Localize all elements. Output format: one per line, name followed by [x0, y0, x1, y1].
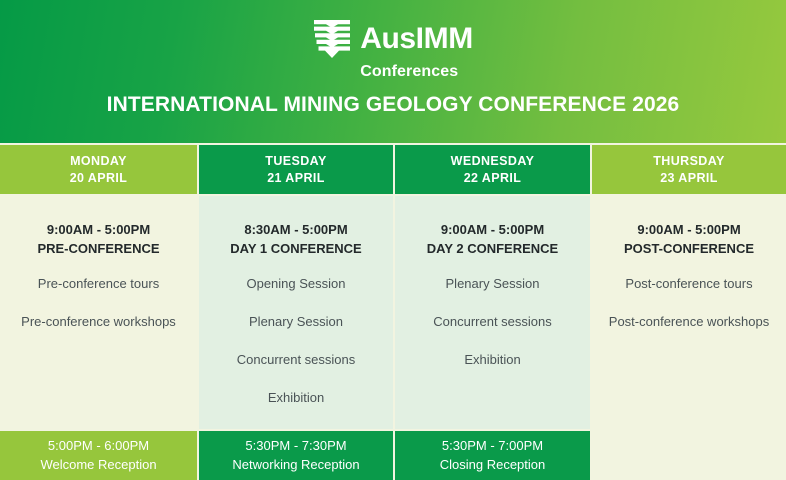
day-body-tuesday: 8:30AM - 5:00PM DAY 1 CONFERENCE Opening… — [199, 196, 393, 429]
day-header-monday: MONDAY 20 APRIL — [0, 143, 197, 196]
reception-name: Welcome Reception — [40, 456, 156, 475]
list-item: Pre-conference workshops — [15, 313, 182, 331]
day-date: 22 APRIL — [464, 170, 522, 187]
slot-label: PRE-CONFERENCE — [37, 240, 159, 259]
day-header-wednesday: WEDNESDAY 22 APRIL — [395, 143, 590, 196]
reception-cell-tuesday: 5:30PM - 7:30PM Networking Reception — [199, 429, 393, 480]
slot-time: 9:00AM - 5:00PM — [441, 221, 544, 240]
slot-label: POST-CONFERENCE — [624, 240, 754, 259]
session-list: Pre-conference tours Pre-conference work… — [0, 275, 197, 351]
reception-time: 5:30PM - 7:30PM — [245, 437, 346, 456]
schedule-column-thursday: THURSDAY 23 APRIL 9:00AM - 5:00PM POST-C… — [590, 143, 786, 480]
reception-time: 5:30PM - 7:00PM — [442, 437, 543, 456]
day-name: TUESDAY — [265, 153, 326, 170]
list-item: Post-conference workshops — [603, 313, 775, 331]
ausimm-layers-icon — [313, 19, 351, 59]
brand-tagline: Conferences — [360, 64, 458, 80]
list-item: Exhibition — [262, 389, 330, 407]
slot-time: 9:00AM - 5:00PM — [637, 221, 740, 240]
list-item: Concurrent sessions — [427, 313, 558, 331]
conference-program-card: AusIMM Conferences INTERNATIONAL MINING … — [0, 0, 786, 480]
schedule-column-wednesday: WEDNESDAY 22 APRIL 9:00AM - 5:00PM DAY 2… — [393, 143, 590, 480]
list-item: Post-conference tours — [619, 275, 758, 293]
slot-label: DAY 2 CONFERENCE — [427, 240, 558, 259]
page-title: INTERNATIONAL MINING GEOLOGY CONFERENCE … — [0, 93, 786, 117]
slot-time: 8:30AM - 5:00PM — [244, 221, 347, 240]
day-body-thursday: 9:00AM - 5:00PM POST-CONFERENCE Post-con… — [592, 196, 786, 429]
list-item: Concurrent sessions — [231, 351, 362, 369]
day-date: 23 APRIL — [660, 170, 718, 187]
day-date: 20 APRIL — [70, 170, 128, 187]
slot-time: 9:00AM - 5:00PM — [47, 221, 150, 240]
schedule-grid: MONDAY 20 APRIL 9:00AM - 5:00PM PRE-CONF… — [0, 143, 786, 480]
list-item: Exhibition — [458, 351, 526, 369]
day-date: 21 APRIL — [267, 170, 325, 187]
schedule-column-tuesday: TUESDAY 21 APRIL 8:30AM - 5:00PM DAY 1 C… — [197, 143, 393, 480]
day-name: THURSDAY — [653, 153, 725, 170]
reception-cell-wednesday: 5:30PM - 7:00PM Closing Reception — [395, 429, 590, 480]
reception-time: 5:00PM - 6:00PM — [48, 437, 149, 456]
list-item: Plenary Session — [243, 313, 349, 331]
day-name: MONDAY — [70, 153, 127, 170]
day-header-tuesday: TUESDAY 21 APRIL — [199, 143, 393, 196]
reception-cell-monday: 5:00PM - 6:00PM Welcome Reception — [0, 429, 197, 480]
list-item: Plenary Session — [440, 275, 546, 293]
session-list: Post-conference tours Post-conference wo… — [592, 275, 786, 351]
session-list: Opening Session Plenary Session Concurre… — [199, 275, 393, 428]
day-body-monday: 9:00AM - 5:00PM PRE-CONFERENCE Pre-confe… — [0, 196, 197, 429]
brand-logo-row: AusIMM — [313, 19, 473, 59]
day-name: WEDNESDAY — [451, 153, 535, 170]
schedule-column-monday: MONDAY 20 APRIL 9:00AM - 5:00PM PRE-CONF… — [0, 143, 197, 480]
reception-cell-thursday-empty — [592, 429, 786, 480]
list-item: Pre-conference tours — [32, 275, 165, 293]
header-banner: AusIMM Conferences INTERNATIONAL MINING … — [0, 0, 786, 143]
session-list: Plenary Session Concurrent sessions Exhi… — [395, 275, 590, 390]
slot-label: DAY 1 CONFERENCE — [230, 240, 361, 259]
brand-logo: AusIMM Conferences — [313, 19, 473, 80]
reception-name: Networking Reception — [232, 456, 359, 475]
list-item: Opening Session — [240, 275, 351, 293]
day-header-thursday: THURSDAY 23 APRIL — [592, 143, 786, 196]
day-body-wednesday: 9:00AM - 5:00PM DAY 2 CONFERENCE Plenary… — [395, 196, 590, 429]
reception-name: Closing Reception — [440, 456, 546, 475]
brand-name: AusIMM — [360, 24, 473, 54]
